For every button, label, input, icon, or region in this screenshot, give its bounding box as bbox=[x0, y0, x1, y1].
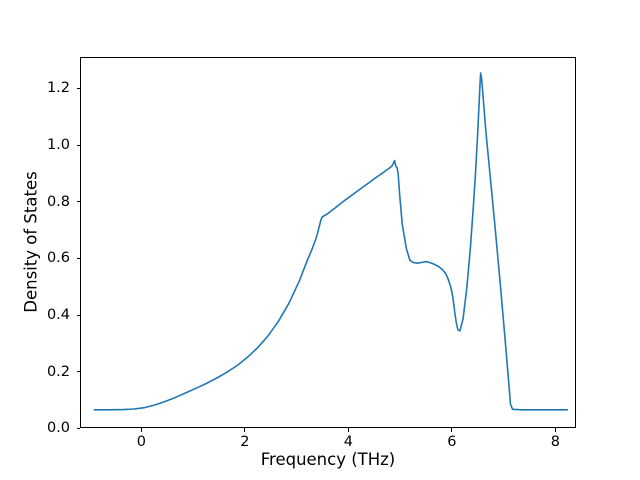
phonon-dos-figure: 0.0 0.2 0.4 0.6 0.8 1.0 1.2 0 2 4 6 8 Fr… bbox=[0, 0, 640, 480]
xtick-label-2: 2 bbox=[240, 434, 249, 450]
xtick-label-0: 0 bbox=[137, 434, 146, 450]
ytick-mark-0 bbox=[77, 428, 81, 429]
xtick-label-4: 4 bbox=[344, 434, 353, 450]
xtick-label-6: 6 bbox=[447, 434, 456, 450]
plot-axes-frame bbox=[80, 57, 576, 428]
ytick-mark-1 bbox=[77, 371, 81, 372]
ytick-mark-2 bbox=[77, 315, 81, 316]
dos-curve-svg bbox=[81, 58, 575, 427]
xtick-label-8: 8 bbox=[551, 434, 560, 450]
xtick-mark-6 bbox=[451, 428, 452, 432]
xtick-mark-2 bbox=[244, 428, 245, 432]
ytick-mark-6 bbox=[77, 88, 81, 89]
dos-line-series bbox=[94, 73, 567, 410]
xtick-mark-4 bbox=[348, 428, 349, 432]
ytick-mark-5 bbox=[77, 145, 81, 146]
ytick-mark-3 bbox=[77, 258, 81, 259]
xtick-mark-8 bbox=[555, 428, 556, 432]
xtick-mark-0 bbox=[141, 428, 142, 432]
ytick-mark-4 bbox=[77, 201, 81, 202]
x-axis-label: Frequency (THz) bbox=[80, 450, 576, 469]
y-axis-label: Density of States bbox=[22, 57, 44, 428]
